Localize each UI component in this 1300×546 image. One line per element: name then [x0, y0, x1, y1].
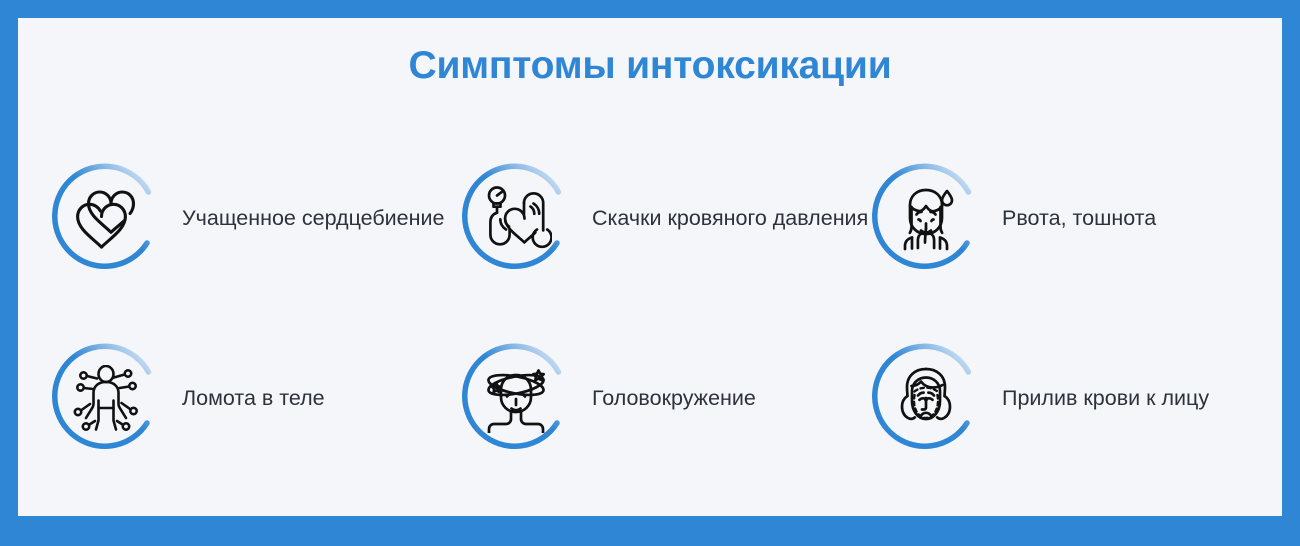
symptom-item-body-ache[interactable]: Ломота в теле: [50, 308, 460, 488]
icon-badge-tachycardia: [50, 145, 168, 291]
symptom-item-tachycardia[interactable]: Учащенное сердцебиение: [50, 128, 460, 308]
symptom-label: Учащенное сердцебиение: [182, 203, 444, 234]
symptom-label: Ломота в теле: [182, 383, 325, 414]
symptom-label: Рвота, тошнота: [1002, 203, 1156, 234]
icon-badge-facial-flushing: [870, 325, 988, 471]
double-heart-icon: [70, 185, 142, 253]
symptom-item-blood-pressure[interactable]: Скачки кровяного давления: [460, 128, 870, 308]
icon-badge-vomiting: [870, 145, 988, 291]
symptom-label: Головокружение: [592, 383, 756, 414]
symptom-label: Прилив крови к лицу: [1002, 383, 1209, 414]
symptom-grid: Учащенное сердцебиение: [50, 128, 1268, 488]
symptom-item-vomiting[interactable]: Рвота, тошнота: [870, 128, 1268, 308]
dizzy-head-icon: [480, 365, 552, 433]
infographic-canvas: Симптомы интоксикации: [18, 18, 1282, 516]
infographic-frame: Симптомы интоксикации: [0, 0, 1300, 546]
nausea-person-icon: [890, 185, 962, 253]
symptom-label: Скачки кровяного давления: [592, 203, 868, 234]
blood-pressure-monitor-icon: [480, 185, 552, 253]
page-title: Симптомы интоксикации: [18, 44, 1282, 88]
icon-badge-blood-pressure: [460, 145, 578, 291]
symptom-item-facial-flushing[interactable]: Прилив крови к лицу: [870, 308, 1268, 488]
flushed-face-icon: [890, 365, 962, 433]
icon-badge-body-ache: [50, 325, 168, 471]
body-pain-points-icon: [70, 365, 142, 433]
symptom-item-dizziness[interactable]: Головокружение: [460, 308, 870, 488]
icon-badge-dizziness: [460, 325, 578, 471]
